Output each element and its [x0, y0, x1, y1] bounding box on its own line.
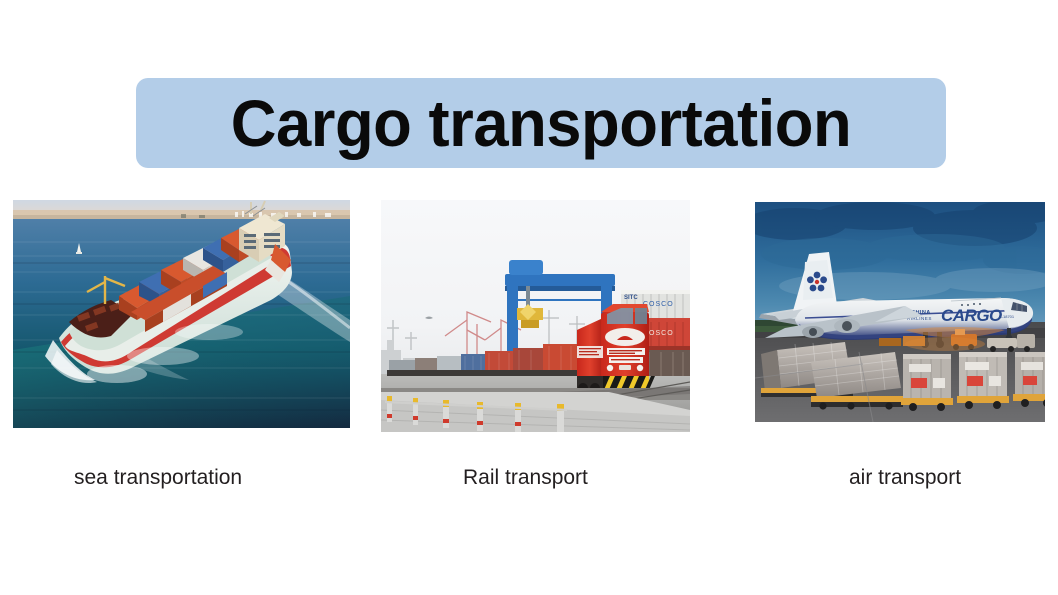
- caption-air-transport: air transport: [849, 466, 961, 490]
- cargo-airplane-photo: CHINA AIRLINES CARGO B-18701: [755, 202, 1045, 422]
- page-title: Cargo transportation: [152, 78, 930, 168]
- container-ship-photo: [13, 200, 350, 428]
- svg-text:SITC: SITC: [624, 295, 638, 301]
- caption-rail-transport: Rail transport: [463, 466, 588, 490]
- caption-sea-transportation: sea transportation: [74, 466, 242, 490]
- freight-train-photo: COSCO COSCO SITC: [381, 200, 690, 432]
- slide-canvas: Cargo transportation: [0, 0, 1058, 595]
- svg-text:B-18701: B-18701: [999, 314, 1015, 319]
- svg-text:CARGO: CARGO: [941, 306, 1002, 325]
